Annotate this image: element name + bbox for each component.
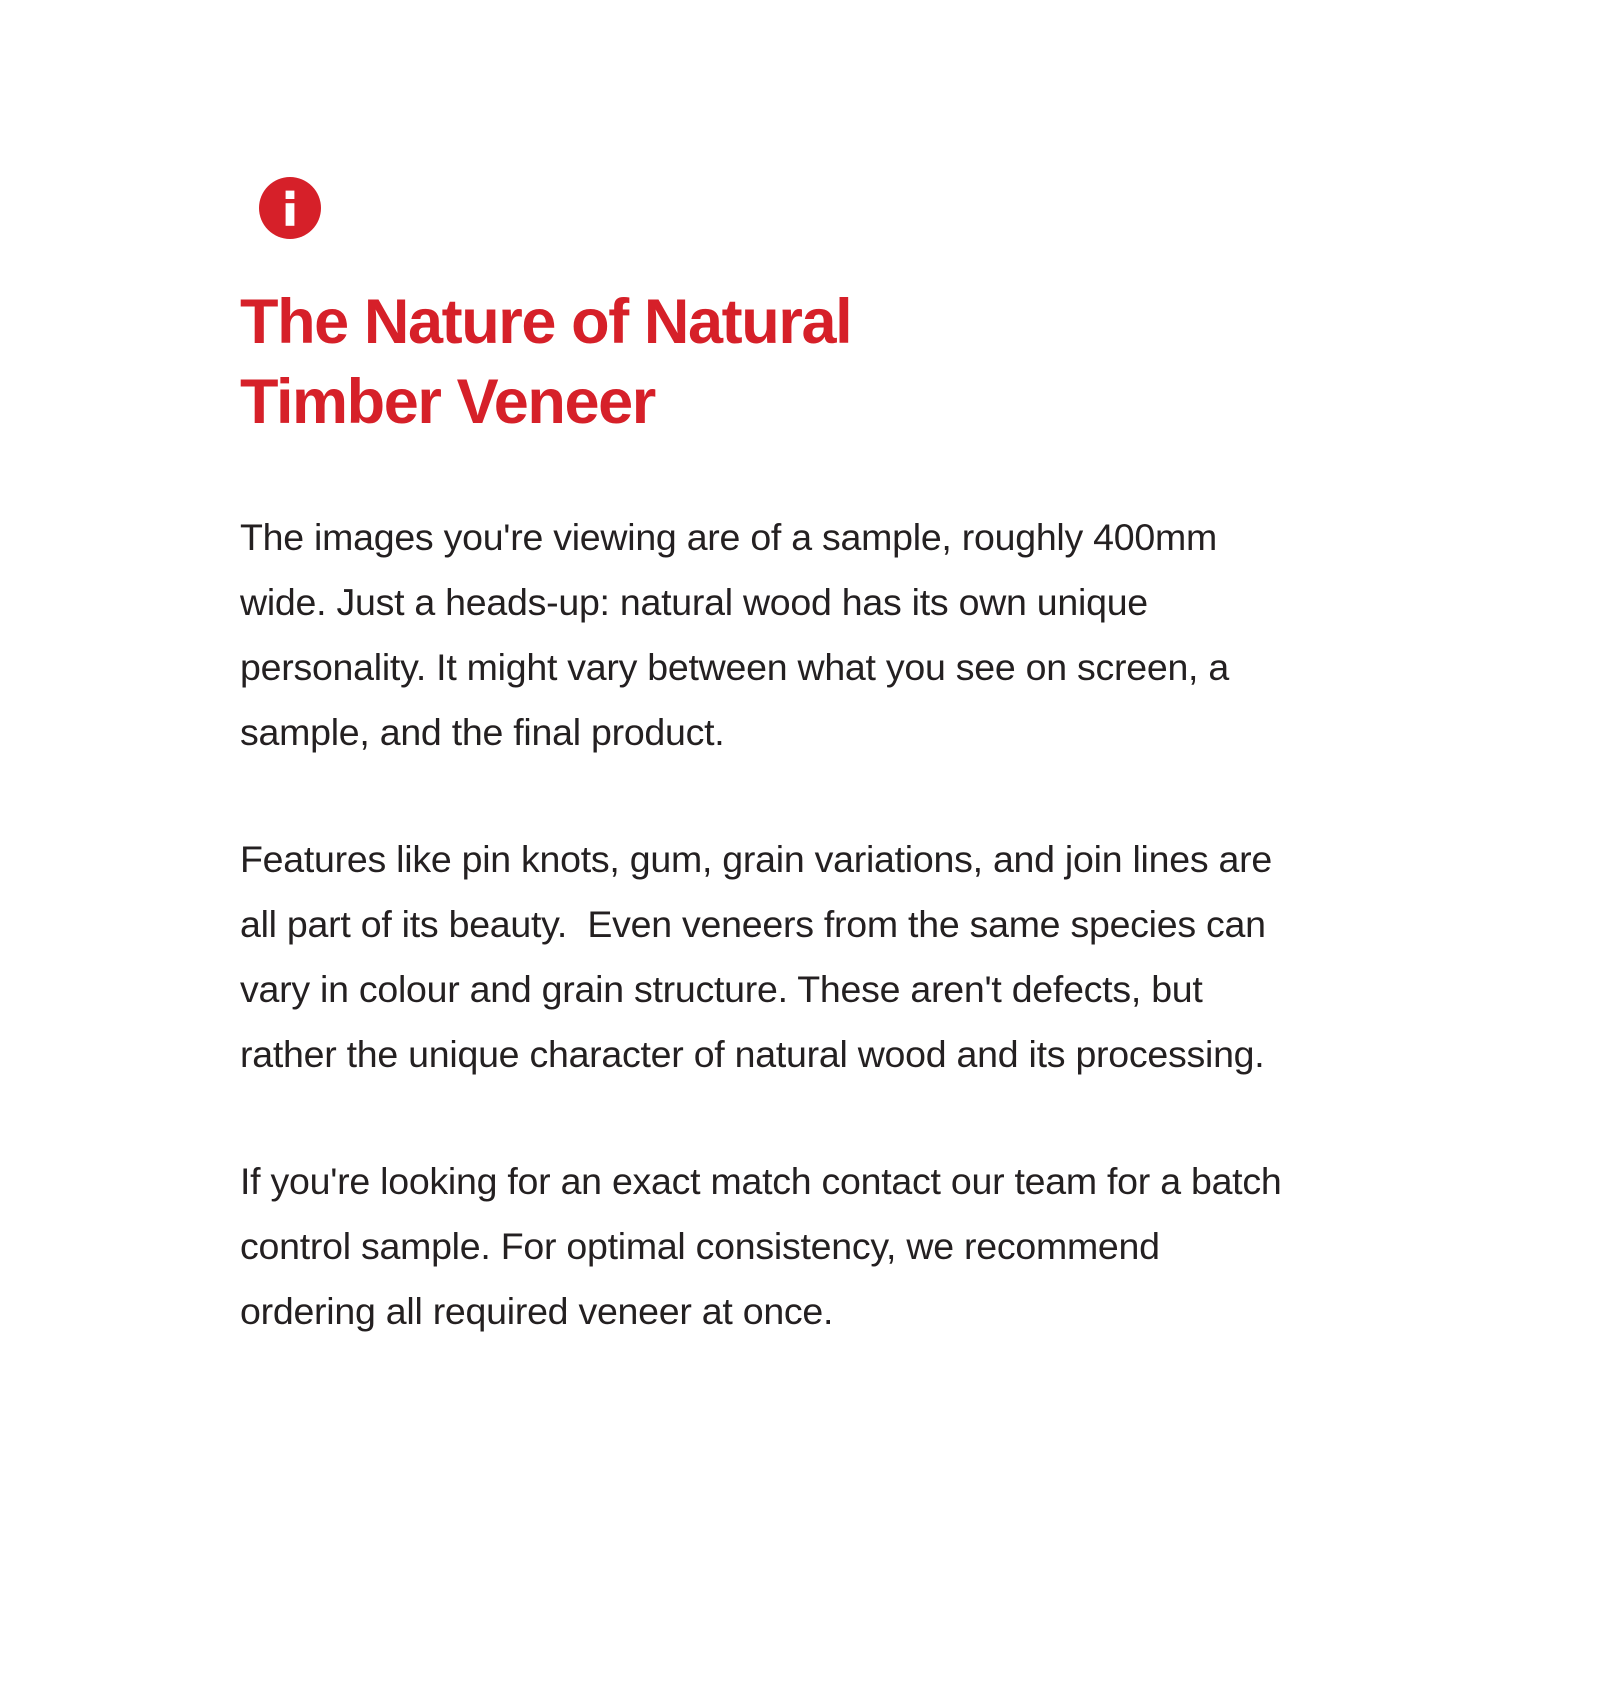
notice-body: The images you're viewing are of a sampl… (240, 505, 1302, 1344)
notice-paragraph-2: Features like pin knots, gum, grain vari… (240, 827, 1302, 1087)
page-title: The Nature of Natural Timber Veneer (240, 282, 1140, 442)
info-icon-glyph (257, 175, 323, 241)
notice-paragraph-3: If you're looking for an exact match con… (240, 1149, 1302, 1344)
info-icon (257, 175, 323, 241)
notice-paragraph-1: The images you're viewing are of a sampl… (240, 505, 1302, 765)
info-notice-page: The Nature of Natural Timber Veneer The … (0, 0, 1620, 1686)
